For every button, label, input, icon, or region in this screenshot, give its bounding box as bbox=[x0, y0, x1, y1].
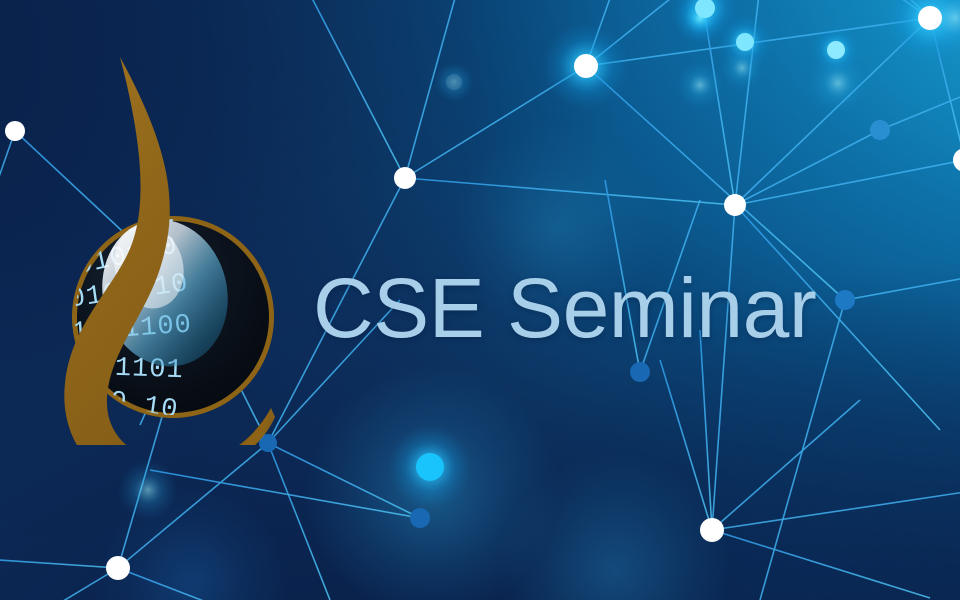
cse-flame-sphere-logo: 101011 1010110 00101010 11011100 0101101… bbox=[45, 45, 325, 445]
cse-seminar-banner: 101011 1010110 00101010 11011100 0101101… bbox=[0, 0, 960, 600]
page-title: CSE Seminar bbox=[313, 266, 816, 350]
